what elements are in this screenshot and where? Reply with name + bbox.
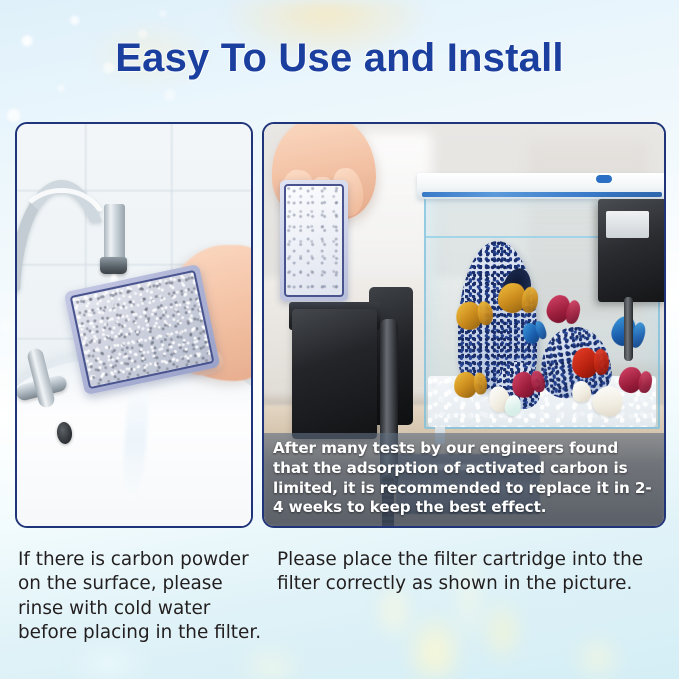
faucet-handle	[17, 365, 78, 445]
betta-fish	[544, 292, 572, 324]
filter-cartridge	[280, 180, 348, 301]
overlay-caption-text: After many tests by our engineers found …	[264, 433, 664, 526]
filter-unit-body	[292, 309, 377, 440]
filter-intake-tube	[624, 297, 633, 361]
betta-fish	[453, 370, 479, 398]
photo-installing-cartridge: After many tests by our engineers found …	[264, 124, 664, 526]
faucet-aerator	[100, 257, 127, 274]
aquarium-light-bar	[417, 173, 664, 199]
filter-media-window	[606, 211, 649, 238]
hang-on-back-filter	[598, 199, 664, 302]
light-bar-knob	[596, 175, 612, 183]
filter-unit-demo	[292, 277, 396, 454]
carbon-filter-media	[284, 184, 344, 297]
photo-panel-left	[15, 122, 253, 528]
caption-right: Please place the filter cartridge into t…	[277, 548, 667, 597]
carbon-filter-media	[70, 269, 215, 388]
photo-rinsing-cartridge	[17, 124, 251, 526]
aquarium-tank	[424, 192, 660, 429]
caption-left: If there is carbon powder on the surface…	[18, 548, 268, 646]
photo-panel-right: After many tests by our engineers found …	[262, 122, 666, 528]
infographic-page: Easy To Use and Install	[0, 0, 679, 679]
light-bar-accent	[422, 192, 663, 198]
page-title: Easy To Use and Install	[0, 36, 679, 81]
